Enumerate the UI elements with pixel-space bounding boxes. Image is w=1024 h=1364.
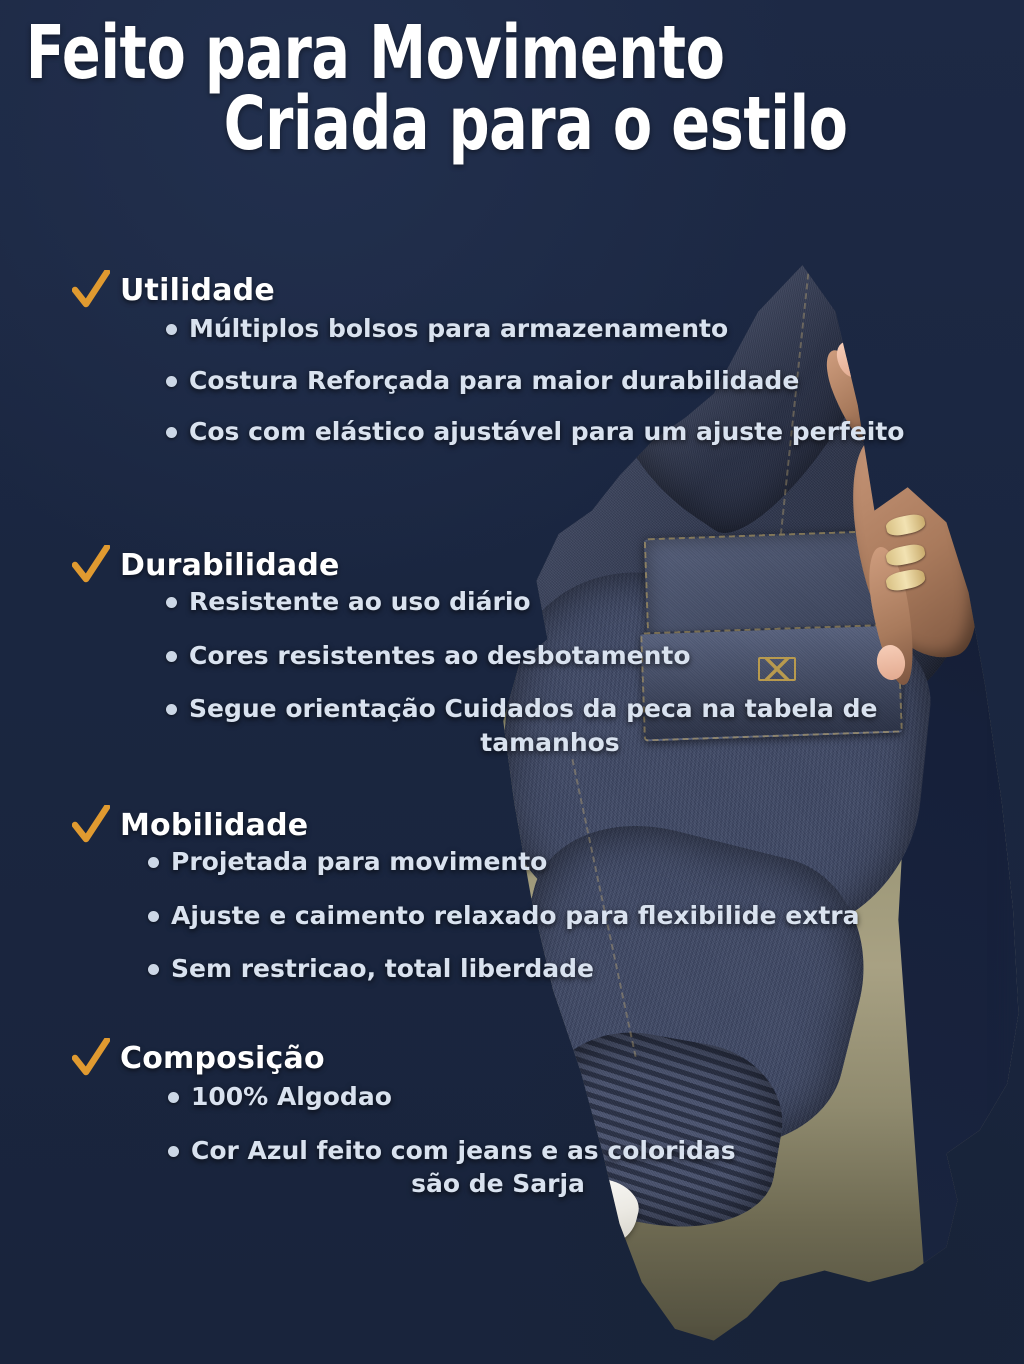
feature-block-composicao: Composição 100% Algodao Cor Azul feito c… [0, 1038, 1000, 1199]
feature-title: Utilidade [120, 273, 275, 308]
bullet-dot-icon [168, 1146, 179, 1157]
feature-heading-row: Durabilidade [0, 545, 1000, 585]
bullet-dot-icon [148, 964, 159, 975]
check-icon [72, 805, 110, 845]
bullet-dot-icon [166, 651, 177, 662]
bullet-text: Ajuste e caimento relaxado para flexibil… [171, 901, 860, 931]
feature-bullets: Projetada para movimento Ajuste e caimen… [0, 847, 1000, 984]
promo-poster: Feito para Movimento Criada para o estil… [0, 0, 1024, 1364]
bullet-text: Cores resistentes ao desbotamento [189, 641, 691, 671]
feature-block-utilidade: Utilidade Múltiplos bolsos para armazena… [0, 270, 1000, 447]
feature-bullets: 100% Algodao Cor Azul feito com jeans e … [0, 1082, 1000, 1199]
bullet-item: Projetada para movimento [0, 847, 1000, 877]
check-icon [72, 270, 110, 310]
bullet-text: 100% Algodao [191, 1082, 392, 1112]
bullet-item: Resistente ao uso diário [0, 587, 1000, 617]
check-icon [72, 1038, 110, 1078]
bullet-dot-icon [166, 427, 177, 438]
bullet-item: Múltiplos bolsos para armazenamento [0, 314, 1000, 344]
bullet-item: Cos com elástico ajustável para um ajust… [0, 417, 1000, 447]
bullet-text: Costura Reforçada para maior durabilidad… [189, 366, 799, 396]
bullet-item: Sem restricao, total liberdade [0, 954, 1000, 984]
bullet-text: são de Sarja [168, 1169, 828, 1199]
bullet-item-continuation: tamanhos [0, 728, 1000, 758]
bullet-text: Cor Azul feito com jeans e as coloridas [191, 1136, 736, 1166]
feature-title: Durabilidade [120, 548, 340, 583]
check-icon [72, 545, 110, 585]
bullet-item: 100% Algodao [0, 1082, 1000, 1112]
bullet-dot-icon [168, 1092, 179, 1103]
bullet-dot-icon [166, 704, 177, 715]
bullet-dot-icon [166, 376, 177, 387]
bullet-item: Segue orientação Cuidados da peca na tab… [0, 694, 1000, 724]
bullet-item: Costura Reforçada para maior durabilidad… [0, 366, 1000, 396]
bullet-text: Segue orientação Cuidados da peca na tab… [189, 694, 877, 724]
bullet-dot-icon [166, 324, 177, 335]
bullet-item: Cor Azul feito com jeans e as coloridas [0, 1136, 1000, 1166]
feature-heading-row: Utilidade [0, 270, 1000, 310]
feature-title: Mobilidade [120, 808, 308, 843]
feature-bullets: Múltiplos bolsos para armazenamento Cost… [0, 314, 1000, 447]
bullet-text: Resistente ao uso diário [189, 587, 531, 617]
feature-heading-row: Composição [0, 1038, 1000, 1078]
bullet-text: Sem restricao, total liberdade [171, 954, 594, 984]
bullet-text: tamanhos [200, 728, 900, 758]
bullet-item: Ajuste e caimento relaxado para flexibil… [0, 901, 1000, 931]
bullet-text: Cos com elástico ajustável para um ajust… [189, 417, 904, 447]
bullet-text: Projetada para movimento [171, 847, 547, 877]
headline-line-2: Criada para o estilo [0, 89, 881, 160]
feature-title: Composição [120, 1041, 325, 1076]
bullet-dot-icon [148, 911, 159, 922]
bullet-dot-icon [148, 857, 159, 868]
page-title: Feito para Movimento Criada para o estil… [0, 18, 881, 160]
bullet-item: Cores resistentes ao desbotamento [0, 641, 1000, 671]
bullet-dot-icon [166, 597, 177, 608]
bullet-text: Múltiplos bolsos para armazenamento [189, 314, 728, 344]
headline-line-1: Feito para Movimento [0, 18, 881, 89]
feature-block-mobilidade: Mobilidade Projetada para movimento Ajus… [0, 805, 1000, 984]
feature-bullets: Resistente ao uso diário Cores resistent… [0, 587, 1000, 757]
feature-heading-row: Mobilidade [0, 805, 1000, 845]
feature-block-durabilidade: Durabilidade Resistente ao uso diário Co… [0, 545, 1000, 757]
bullet-item-continuation: são de Sarja [0, 1169, 1000, 1199]
